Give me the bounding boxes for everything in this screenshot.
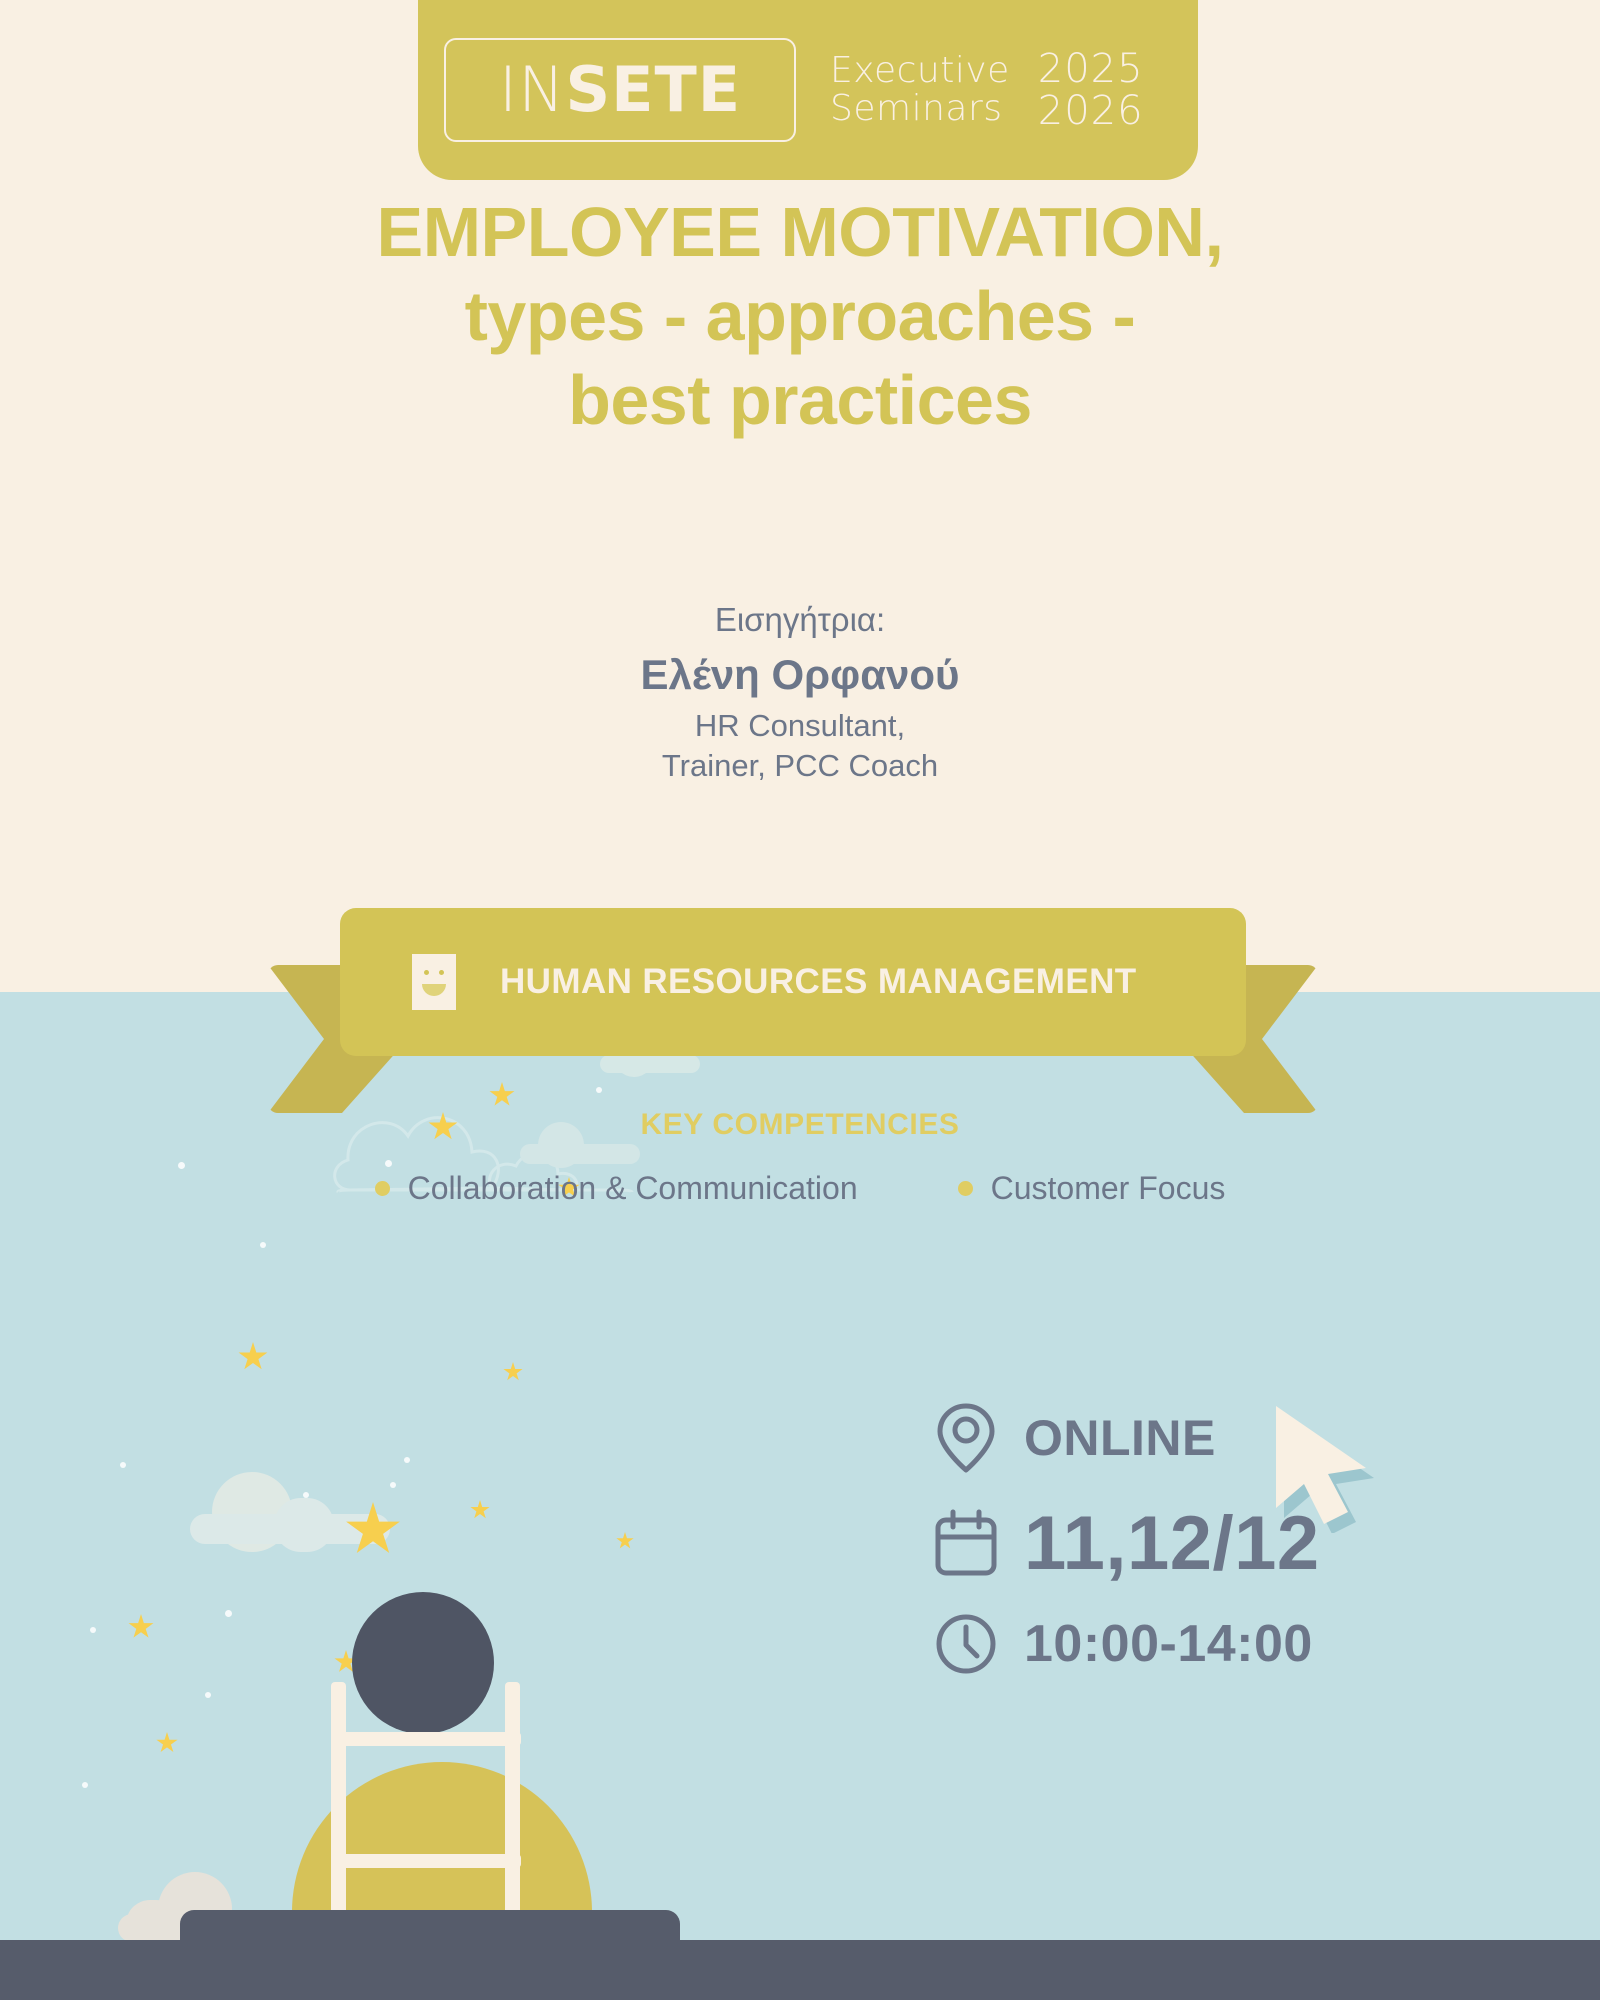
ladder-rung [331,1732,521,1746]
sparkle-dot [303,1492,309,1498]
category-ribbon: HUMAN RESOURCES MANAGEMENT [268,908,1318,1068]
seminar-title: EMPLOYEE MOTIVATION, types - approaches … [0,190,1600,442]
title-line-1: EMPLOYEE MOTIVATION, [0,190,1600,274]
ground-shape [0,1940,1600,2000]
brand-header-bar: INSETE Executive Seminars 2025 2026 [418,0,1198,180]
bullet-dot-icon [375,1181,390,1196]
key-competencies-heading: KEY COMPETENCIES [0,1108,1600,1142]
calendar-icon [930,1508,1002,1580]
location-pin-icon [930,1400,1002,1476]
star-icon [128,1614,154,1640]
sparkle-dot [390,1482,396,1488]
competency-label: Customer Focus [991,1170,1226,1207]
speaker-block: Εισηγήτρια: Ελένη Ορφανού HR Consultant,… [0,598,1600,787]
insete-logo[interactable]: INSETE [444,38,796,142]
cloud-shape [190,1472,390,1544]
ladder-rung [331,1854,521,1868]
series-line-1: Executive [830,52,1010,90]
competency-label: Collaboration & Communication [408,1170,858,1207]
logo-prefix: IN [499,53,566,126]
mouse-cursor-icon [1268,1388,1398,1533]
year-line-1: 2025 [1038,48,1144,90]
category-label: HUMAN RESOURCES MANAGEMENT [500,962,1137,1002]
sparkle-dot [120,1462,126,1468]
title-line-2: types - approaches - [0,274,1600,358]
star-icon [238,1342,268,1372]
star-icon [503,1362,523,1382]
smiley-eye-right [439,970,444,975]
clock-icon [930,1611,1002,1677]
sparkle-dot [205,1692,211,1698]
title-line-3: best practices [0,358,1600,442]
sparkle-dot [178,1162,185,1169]
sparkle-dot [404,1457,410,1463]
sparkle-dot [260,1242,266,1248]
sparkle-dot [90,1627,96,1633]
sparkle-dot [225,1610,232,1617]
speaker-label: Εισηγήτρια: [0,598,1600,643]
moon-shape [352,1592,494,1734]
series-name: Executive Seminars [830,52,1010,128]
year-line-2: 2026 [1038,90,1144,132]
series-line-2: Seminars [830,90,1010,128]
sparkle-dot [596,1087,602,1093]
key-competencies-list: Collaboration & Communication Customer F… [0,1170,1600,1207]
list-item: Customer Focus [958,1170,1226,1207]
list-item: Collaboration & Communication [375,1170,858,1207]
sparkle-dot [82,1782,88,1788]
speaker-role-line-1: HR Consultant, [0,706,1600,747]
series-years: 2025 2026 [1038,48,1144,133]
star-icon [470,1500,490,1520]
smiley-badge-icon [412,954,456,1010]
speaker-role-line-2: Trainer, PCC Coach [0,746,1600,787]
smiley-mouth [422,984,446,996]
star-icon [156,1732,178,1754]
ribbon-body: HUMAN RESOURCES MANAGEMENT [340,908,1246,1056]
detail-row-time: 10:00-14:00 [930,1611,1450,1677]
location-value: ONLINE [1024,1409,1216,1467]
smiley-eye-left [424,970,429,975]
time-value: 10:00-14:00 [1024,1614,1313,1674]
star-icon [616,1532,634,1550]
bullet-dot-icon [958,1181,973,1196]
logo-bold: SETE [566,53,742,126]
sparkle-dot [385,1160,392,1167]
speaker-name: Ελένη Ορφανού [0,643,1600,706]
